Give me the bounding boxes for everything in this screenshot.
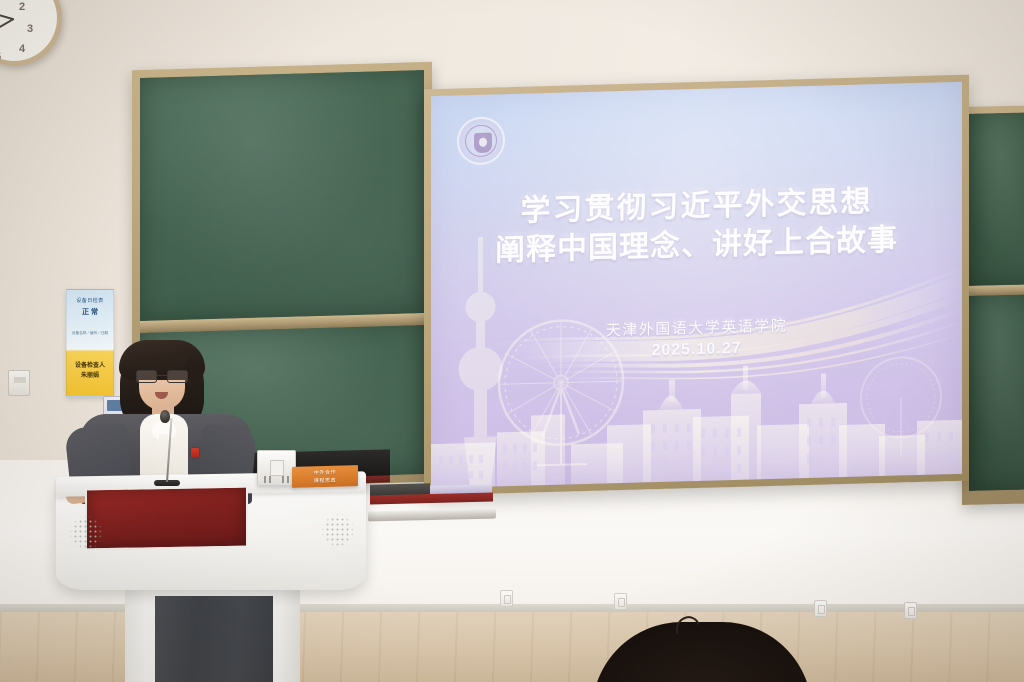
clock-minute-hand (0, 18, 14, 38)
podium-speaker-grille-right (320, 512, 356, 550)
control-box-leg (282, 476, 284, 483)
poster-heading: 正 常 (67, 307, 113, 317)
nameplate-line2: 课程思政 (292, 476, 358, 486)
green-chalkboard-right (962, 105, 1024, 505)
white-control-box (257, 450, 296, 486)
chalkboard-panel-upper-right (969, 112, 1024, 286)
projection-screen-frame: 学习贯彻习近平外交思想 阐释中国理念、讲好上合故事 天津外国语大学英语学院 20… (424, 75, 969, 496)
power-outlet (614, 593, 627, 610)
chalkboard-panel-lower-right (969, 294, 1024, 491)
slide-title: 学习贯彻习近平外交思想 阐释中国理念、讲好上合故事 (431, 180, 962, 272)
poster-title: 设备日检表 (67, 297, 113, 304)
podium-speaker-grille-left (68, 514, 104, 552)
screen-glow (431, 82, 962, 488)
microphone-icon (160, 410, 170, 423)
glasses-icon (136, 370, 188, 383)
glasses-bridge (157, 375, 167, 376)
podium-front-panel (85, 486, 248, 551)
wall-light-switch[interactable] (8, 370, 30, 396)
lapel-badge (191, 448, 199, 458)
power-outlet (904, 602, 917, 619)
power-outlet (814, 600, 827, 617)
control-box-leg (287, 476, 289, 483)
clock-numeral: 4 (19, 43, 25, 55)
control-box-leg (269, 476, 271, 483)
clock-numeral: 5 (0, 51, 1, 63)
podium-nameplate: 中外合作 课程思政 (292, 465, 358, 488)
clock-numeral: 1 (0, 0, 3, 1)
glasses-lens-right (167, 370, 188, 383)
control-box-leg (264, 476, 266, 483)
glasses-lens-left (136, 370, 157, 383)
projection-screen: 学习贯彻习近平外交思想 阐释中国理念、讲好上合故事 天津外国语大学英语学院 20… (431, 82, 962, 488)
podium-pedestal-dark (155, 596, 273, 682)
classroom-scene: 12 1 2 3 4 5 (0, 0, 1024, 682)
chalkboard-panel-upper (140, 70, 424, 321)
power-outlet (500, 590, 513, 607)
clock-numeral: 2 (19, 1, 25, 13)
clock-numeral: 3 (27, 23, 33, 35)
control-box-slot (270, 460, 284, 476)
